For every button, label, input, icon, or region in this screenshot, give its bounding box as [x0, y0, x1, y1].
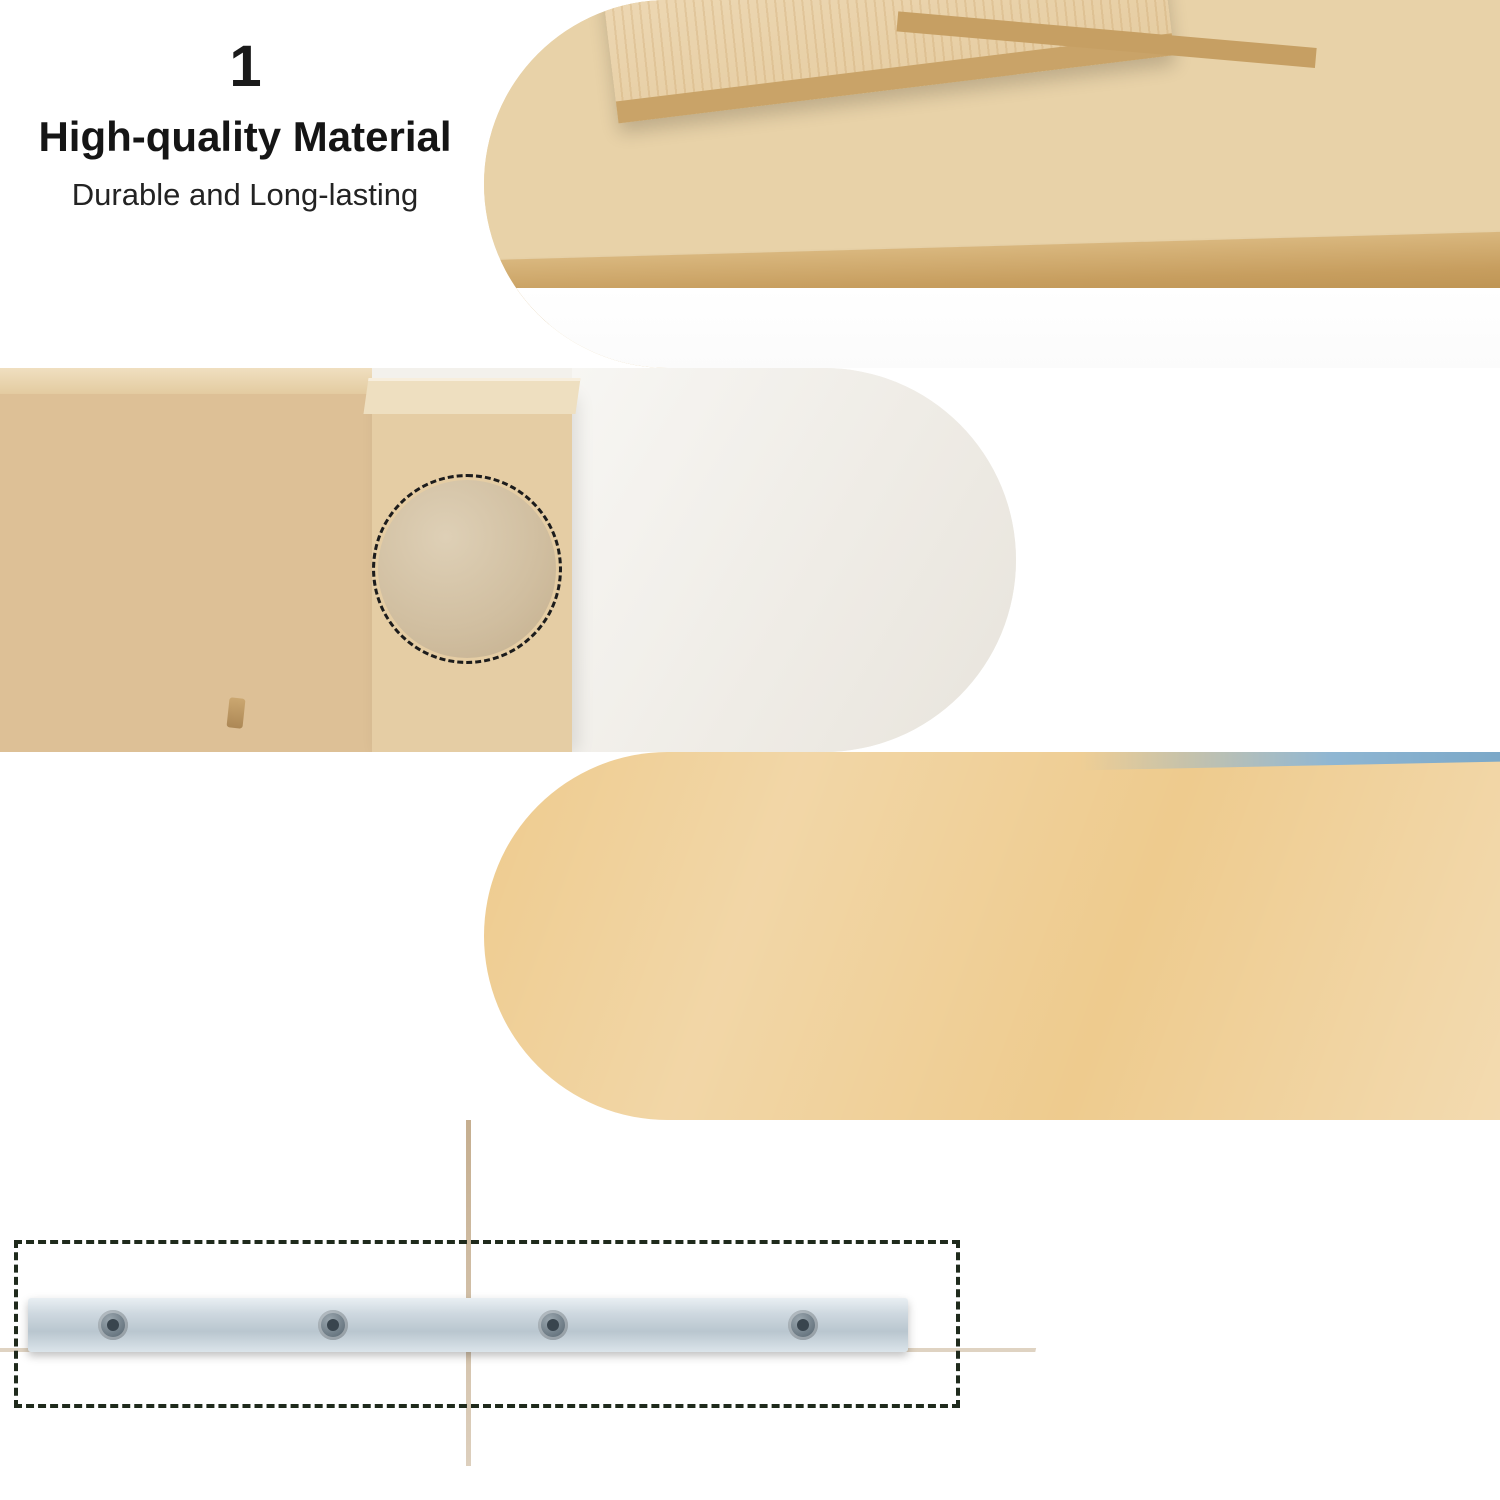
feature-band-1: 1 High-quality Material Durable and Long… [0, 0, 1500, 368]
metal-support-bar [28, 1298, 908, 1352]
feature-band-3: 3 Stylish Color Decorate your desktop, c… [0, 752, 1500, 1120]
feature-1-image [484, 0, 1500, 368]
wood-leg-top-edge [363, 378, 580, 414]
feature-4-image [0, 1120, 1040, 1500]
feature-1-text: 1 High-quality Material Durable and Long… [0, 38, 490, 214]
white-bottom-strip [0, 1466, 1040, 1500]
dashed-highlight-circle [372, 474, 562, 664]
wood-side-panel-top-edge [0, 368, 372, 394]
infographic-page: 1 High-quality Material Durable and Long… [0, 0, 1500, 1500]
feature-band-4: 4 Support Bar Sturdy with a maximum capa… [0, 1120, 1500, 1500]
screw-icon [98, 1310, 128, 1340]
feature-band-2: 2 Anti-skid Pad Non-slip and protect you… [0, 368, 1500, 752]
wood-side-panel [0, 368, 372, 752]
feature-2-image [0, 368, 1016, 752]
screw-icon [538, 1310, 568, 1340]
wood-grain-highlight [484, 752, 1500, 1120]
desk-surface-backdrop [572, 368, 1016, 752]
feature-1-title: High-quality Material [0, 114, 490, 160]
screw-icon [318, 1310, 348, 1340]
feature-3-image [484, 752, 1500, 1120]
wood-nail [226, 697, 245, 729]
white-backdrop [484, 288, 1500, 368]
feature-1-number: 1 [0, 38, 490, 96]
feature-1-subtitle: Durable and Long-lasting [0, 176, 490, 214]
screw-icon [788, 1310, 818, 1340]
